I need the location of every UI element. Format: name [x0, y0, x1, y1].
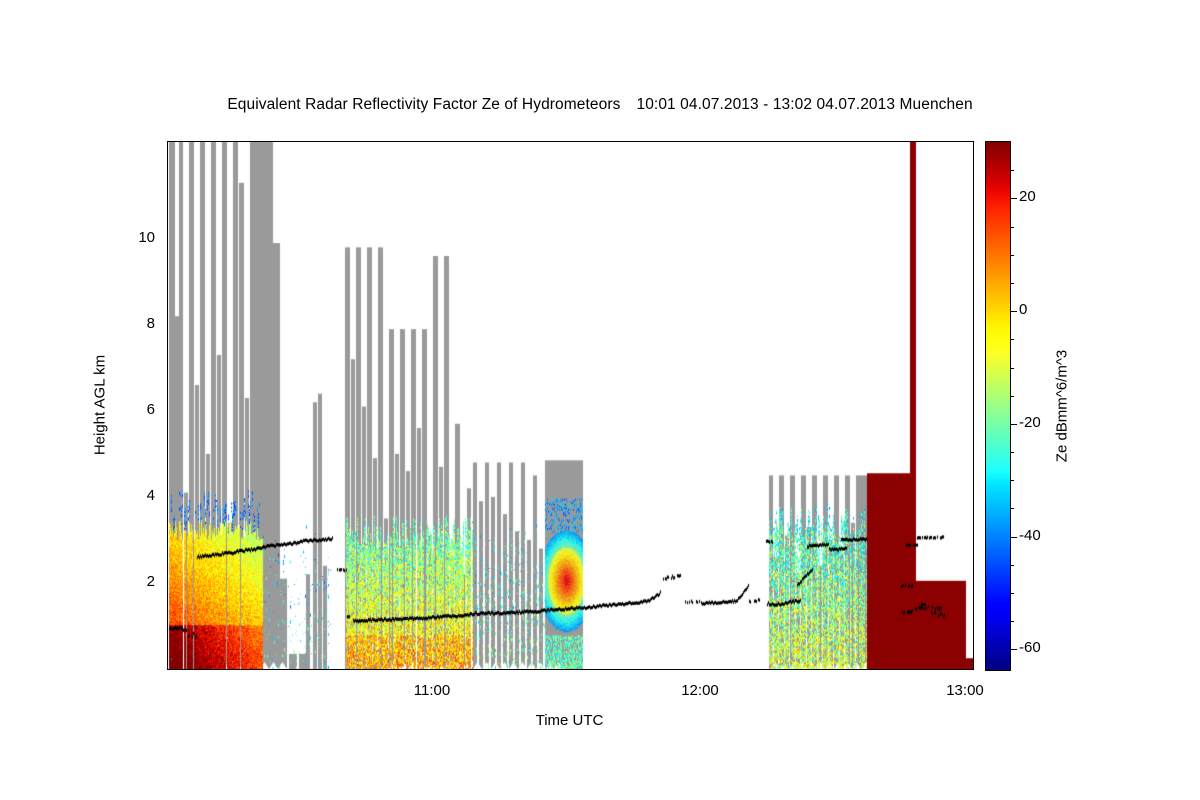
colorbar-tick-label: 0 [1019, 301, 1027, 318]
x-axis-tick-label: 12:00 [660, 682, 740, 699]
colorbar-minor-tick [1010, 621, 1014, 622]
colorbar-tick [1010, 198, 1017, 199]
y-axis-tick-label: 6 [115, 401, 155, 418]
colorbar-tick [1010, 311, 1017, 312]
colorbar-tick [1010, 537, 1017, 538]
colorbar-minor-tick [1010, 283, 1014, 284]
x-axis-tick-label: 11:00 [392, 682, 472, 699]
x-axis-tick-label: 13:00 [925, 682, 1005, 699]
colorbar-minor-tick [1010, 170, 1014, 171]
y-axis-tick-label: 4 [115, 487, 155, 504]
colorbar-tick-label: -40 [1019, 527, 1041, 544]
colorbar-minor-tick [1010, 255, 1014, 256]
colorbar-minor-tick [1010, 593, 1014, 594]
colorbar-tick [1010, 649, 1017, 650]
colorbar-tick-label: -20 [1019, 414, 1041, 431]
y-axis-tick-label: 10 [115, 229, 155, 246]
colorbar-minor-tick [1010, 565, 1014, 566]
x-axis-title: Time UTC [420, 712, 720, 729]
colorbar-minor-tick [1010, 396, 1014, 397]
colorbar-minor-tick [1010, 508, 1014, 509]
radar-reflectivity-figure: Equivalent Radar Reflectivity Factor Ze … [0, 0, 1200, 800]
colorbar-minor-tick [1010, 339, 1014, 340]
colorbar-tick-label: 20 [1019, 188, 1036, 205]
y-axis-tick-label: 8 [115, 315, 155, 332]
colorbar [985, 141, 1011, 671]
colorbar-minor-tick [1010, 452, 1014, 453]
colorbar-minor-tick [1010, 227, 1014, 228]
colorbar-gradient [986, 142, 1010, 670]
colorbar-title: Ze dBmm^6/m^3 [1054, 350, 1071, 462]
colorbar-minor-tick [1010, 480, 1014, 481]
colorbar-tick [1010, 424, 1017, 425]
colorbar-tick-label: -60 [1019, 639, 1041, 656]
y-axis-tick-label: 2 [115, 573, 155, 590]
colorbar-minor-tick [1010, 368, 1014, 369]
y-axis-title: Height AGL km [92, 354, 109, 454]
axis-labels-layer [0, 0, 1200, 800]
